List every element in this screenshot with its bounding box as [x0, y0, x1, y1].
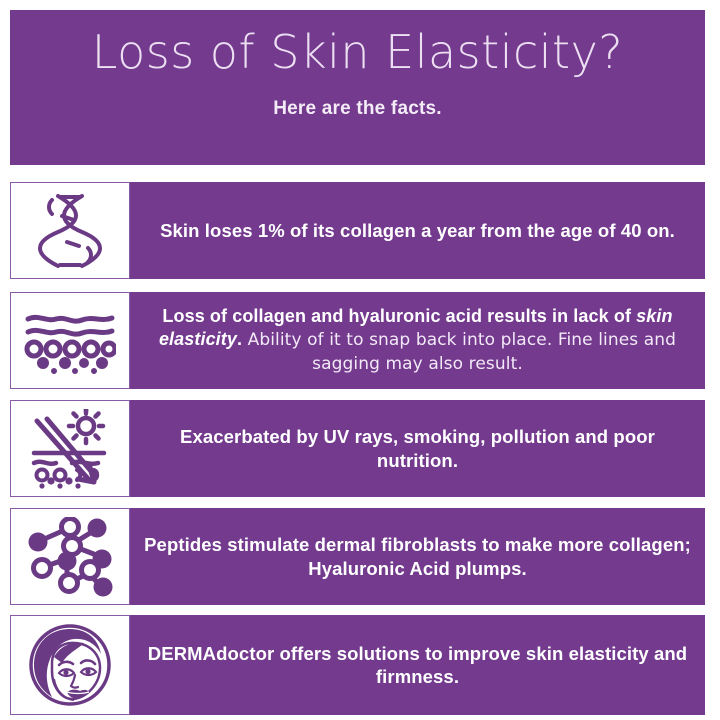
icon-box-1 [10, 182, 130, 279]
fact-text-4-body: Peptides stimulate dermal fibroblasts to… [144, 533, 691, 579]
fact-row-5: DERMAdoctor offers solutions to improve … [10, 615, 705, 715]
fact-text-5-body: DERMAdoctor offers solutions to improve … [144, 642, 691, 688]
fact-text-2-tail: Ability of it to snap back into place. F… [242, 330, 676, 374]
fact-row-1: Skin loses 1% of its collagen a year fro… [10, 182, 705, 279]
fact-text-3-body: Exacerbated by UV rays, smoking, polluti… [144, 425, 691, 471]
fact-text-2-lead: Loss of collagen and hyaluronic acid res… [162, 306, 636, 326]
icon-box-4 [10, 508, 130, 605]
skin-layers-icon [24, 308, 116, 374]
fact-text-5: DERMAdoctor offers solutions to improve … [130, 615, 705, 715]
fact-text-2: Loss of collagen and hyaluronic acid res… [130, 292, 705, 389]
uv-sun-rays-icon [28, 409, 112, 489]
fact-text-1: Skin loses 1% of its collagen a year fro… [130, 182, 705, 279]
fact-text-2-body: Loss of collagen and hyaluronic acid res… [136, 305, 699, 375]
fact-text-4: Peptides stimulate dermal fibroblasts to… [130, 508, 705, 605]
infographic-root: Loss of Skin Elasticity? Here are the fa… [0, 0, 720, 720]
page-subtitle: Here are the facts. [273, 98, 442, 120]
icon-box-5 [10, 615, 130, 715]
page-title: Loss of Skin Elasticity? [92, 28, 623, 76]
fact-text-3: Exacerbated by UV rays, smoking, polluti… [130, 400, 705, 497]
molecule-network-icon [26, 517, 114, 597]
dna-helix-icon [38, 192, 102, 270]
dermadoctor-face-logo-icon [28, 623, 112, 707]
icon-box-2 [10, 292, 130, 389]
fact-text-1-body: Skin loses 1% of its collagen a year fro… [160, 219, 675, 242]
header-banner: Loss of Skin Elasticity? Here are the fa… [10, 10, 705, 165]
fact-row-3: Exacerbated by UV rays, smoking, polluti… [10, 400, 705, 497]
icon-box-3 [10, 400, 130, 497]
fact-row-4: Peptides stimulate dermal fibroblasts to… [10, 508, 705, 605]
fact-row-2: Loss of collagen and hyaluronic acid res… [10, 292, 705, 389]
